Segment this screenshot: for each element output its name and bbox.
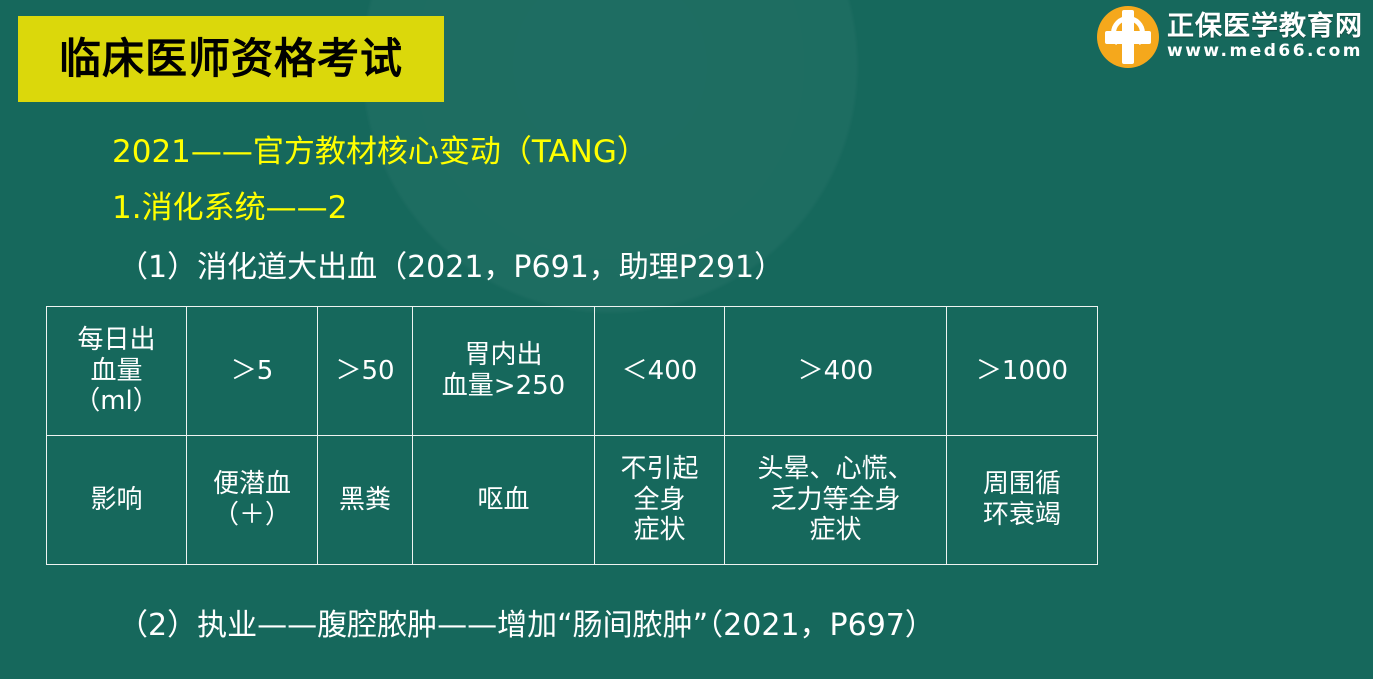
table-cell: 便潜血（＋） bbox=[187, 436, 318, 565]
medical-cross-icon bbox=[1097, 6, 1159, 68]
table-row-label: 影响 bbox=[47, 436, 187, 565]
table-row: 每日出血量（ml） ＞5 ＞50 胃内出血量>250 ＜400 ＞400 ＞10… bbox=[47, 307, 1098, 436]
content-heading-1: 2021——官方教材核心变动（TANG） bbox=[112, 137, 648, 168]
table-cell: 头晕、心慌、乏力等全身症状 bbox=[725, 436, 947, 565]
table-row: 影响 便潜血（＋） 黑粪 呕血 不引起全身症状 头晕、心慌、乏力等全身症状 周围… bbox=[47, 436, 1098, 565]
brand-text-block: 正保医学教育网 www.med66.com bbox=[1167, 13, 1363, 60]
brand-logo: 正保医学教育网 www.med66.com bbox=[1097, 6, 1363, 68]
table-cell: 胃内出血量>250 bbox=[413, 307, 595, 436]
cell-value: 周围循环衰竭 bbox=[951, 469, 1093, 530]
table-cell: ＞5 bbox=[187, 307, 318, 436]
cell-value: 头晕、心慌、乏力等全身症状 bbox=[729, 454, 942, 546]
bleeding-volume-table: 每日出血量（ml） ＞5 ＞50 胃内出血量>250 ＜400 ＞400 ＞10… bbox=[46, 306, 1098, 565]
cell-value: 黑粪 bbox=[322, 485, 408, 516]
table-cell: ＞1000 bbox=[947, 307, 1098, 436]
page-title: 临床医师资格考试 bbox=[59, 38, 403, 80]
brand-name: 正保医学教育网 bbox=[1167, 13, 1363, 41]
cell-value: ＞400 bbox=[729, 356, 942, 387]
table-cell: ＞400 bbox=[725, 307, 947, 436]
cell-value: 影响 bbox=[51, 485, 182, 516]
table-cell: 黑粪 bbox=[318, 436, 413, 565]
table-row-label: 每日出血量（ml） bbox=[47, 307, 187, 436]
cell-value: 胃内出血量>250 bbox=[417, 340, 590, 401]
table-cell: 不引起全身症状 bbox=[595, 436, 725, 565]
cell-value: 不引起全身症状 bbox=[599, 454, 720, 546]
cell-value: ＞5 bbox=[191, 356, 313, 387]
cell-value: ＞50 bbox=[322, 356, 408, 387]
table-cell: ＞50 bbox=[318, 307, 413, 436]
content-subtitle: （1）消化道大出血（2021，P691，助理P291） bbox=[118, 253, 784, 283]
table-cell: 呕血 bbox=[413, 436, 595, 565]
content-footer: （2）执业——腹腔脓肿——增加“肠间脓肿”（2021，P697） bbox=[118, 611, 935, 641]
table-cell: ＜400 bbox=[595, 307, 725, 436]
cell-value: 呕血 bbox=[417, 485, 590, 516]
cell-value: 便潜血（＋） bbox=[191, 469, 313, 530]
table-cell: 周围循环衰竭 bbox=[947, 436, 1098, 565]
cell-value: ＜400 bbox=[599, 356, 720, 387]
slide-title-banner: 临床医师资格考试 bbox=[18, 16, 444, 102]
brand-url: www.med66.com bbox=[1167, 43, 1363, 61]
medical-cross-arc bbox=[1111, 16, 1145, 50]
cell-value: ＞1000 bbox=[951, 356, 1093, 387]
cell-value: 每日出血量（ml） bbox=[51, 325, 182, 417]
content-heading-2: 1.消化系统——2 bbox=[112, 193, 347, 224]
